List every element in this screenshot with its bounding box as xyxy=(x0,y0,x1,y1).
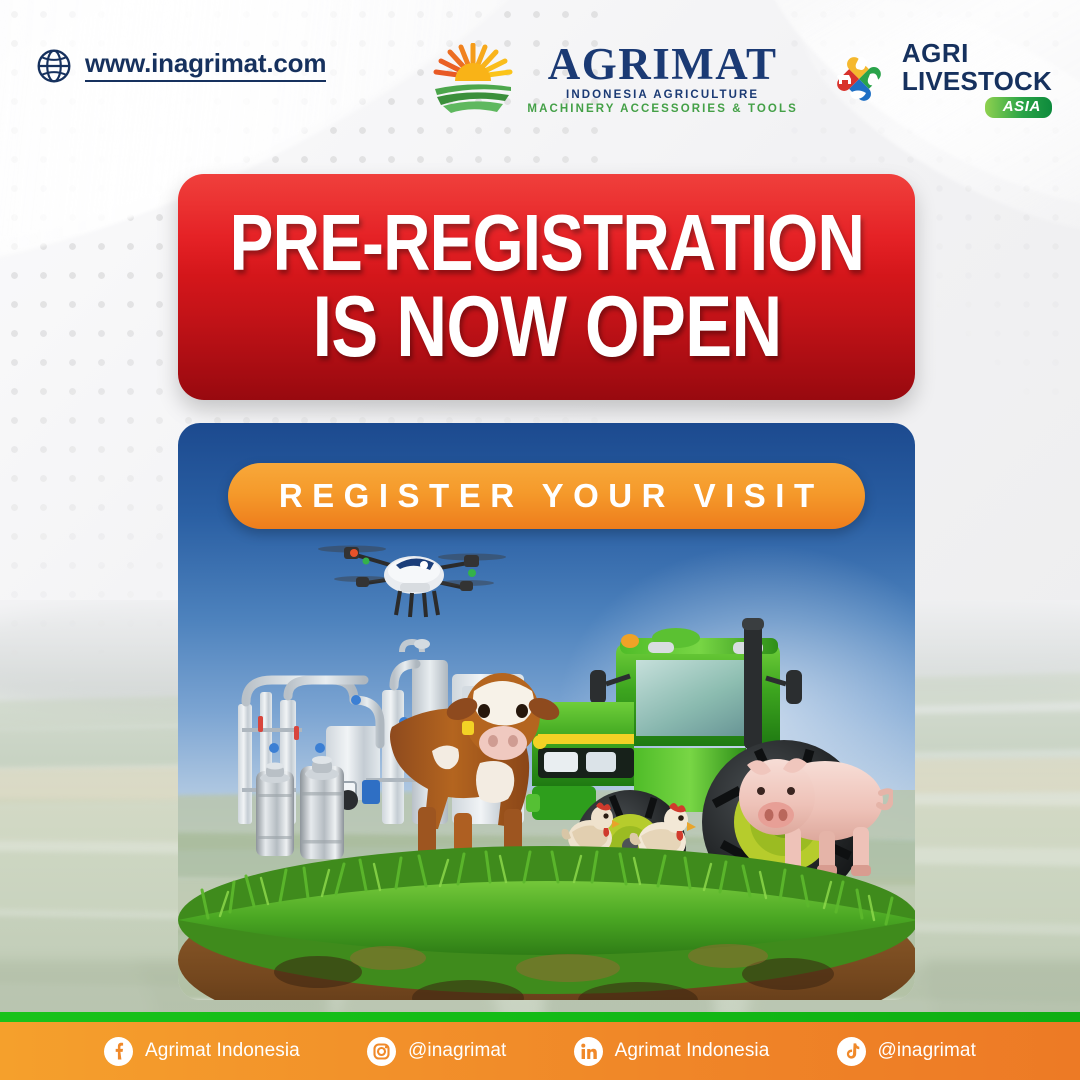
agri-livestock-logo: AGRI LIVESTOCK ASIA xyxy=(826,40,1052,118)
instagram-icon xyxy=(367,1037,396,1066)
announcement-banner: PRE-REGISTRATION IS NOW OPEN xyxy=(178,174,915,400)
green-divider-bar xyxy=(0,1012,1080,1022)
agrimat-wordmark: AGRIMAT INDONESIA AGRICULTURE MACHINERY … xyxy=(527,43,797,116)
livestock-line-2: LIVESTOCK xyxy=(902,68,1052,94)
logo-group: AGRIMAT INDONESIA AGRICULTURE MACHINERY … xyxy=(431,40,1052,118)
header: www.inagrimat.com xyxy=(0,0,1080,140)
agrimat-logo: AGRIMAT INDONESIA AGRICULTURE MACHINERY … xyxy=(431,43,797,116)
cta-label: REGISTER YOUR VISIT xyxy=(269,477,823,515)
hero-photo-card: REGISTER YOUR VISIT xyxy=(178,423,915,1000)
facebook-handle: Agrimat Indonesia xyxy=(145,1040,300,1062)
asia-badge-label: ASIA xyxy=(1003,98,1041,115)
social-item-tiktok[interactable]: @inagrimat xyxy=(837,1037,976,1066)
instagram-handle: @inagrimat xyxy=(408,1040,506,1062)
globe-icon xyxy=(36,48,72,84)
linkedin-handle: Agrimat Indonesia xyxy=(615,1040,770,1062)
agri-livestock-wordmark: AGRI LIVESTOCK ASIA xyxy=(902,40,1052,118)
grass-soil-island-icon xyxy=(178,812,915,1000)
banner-headline-line-2: IS NOW OPEN xyxy=(312,286,781,369)
social-item-instagram[interactable]: @inagrimat xyxy=(367,1037,506,1066)
social-item-facebook[interactable]: Agrimat Indonesia xyxy=(104,1037,300,1066)
sunrise-field-icon xyxy=(431,43,515,115)
website-link[interactable]: www.inagrimat.com xyxy=(36,48,326,84)
agrimat-tagline-1: INDONESIA AGRICULTURE xyxy=(566,89,759,101)
facebook-icon xyxy=(104,1037,133,1066)
livestock-line-1: AGRI xyxy=(902,40,1052,66)
agrimat-tagline-2: MACHINERY ACCESSORIES & TOOLS xyxy=(527,103,797,115)
social-footer: Agrimat Indonesia @inagrimat Agrimat Ind… xyxy=(0,1022,1080,1080)
agrimat-name: AGRIMAT xyxy=(548,43,778,86)
agriculture-drone-icon xyxy=(296,511,526,631)
tiktok-handle: @inagrimat xyxy=(878,1040,976,1062)
website-url-text: www.inagrimat.com xyxy=(85,50,326,82)
tiktok-icon xyxy=(837,1037,866,1066)
four-heart-animals-icon xyxy=(826,46,892,112)
banner-headline-line-1: PRE-REGISTRATION xyxy=(229,205,863,282)
asia-badge: ASIA xyxy=(985,97,1052,118)
linkedin-icon xyxy=(574,1037,603,1066)
register-your-visit-button[interactable]: REGISTER YOUR VISIT xyxy=(228,463,865,529)
social-item-linkedin[interactable]: Agrimat Indonesia xyxy=(574,1037,770,1066)
